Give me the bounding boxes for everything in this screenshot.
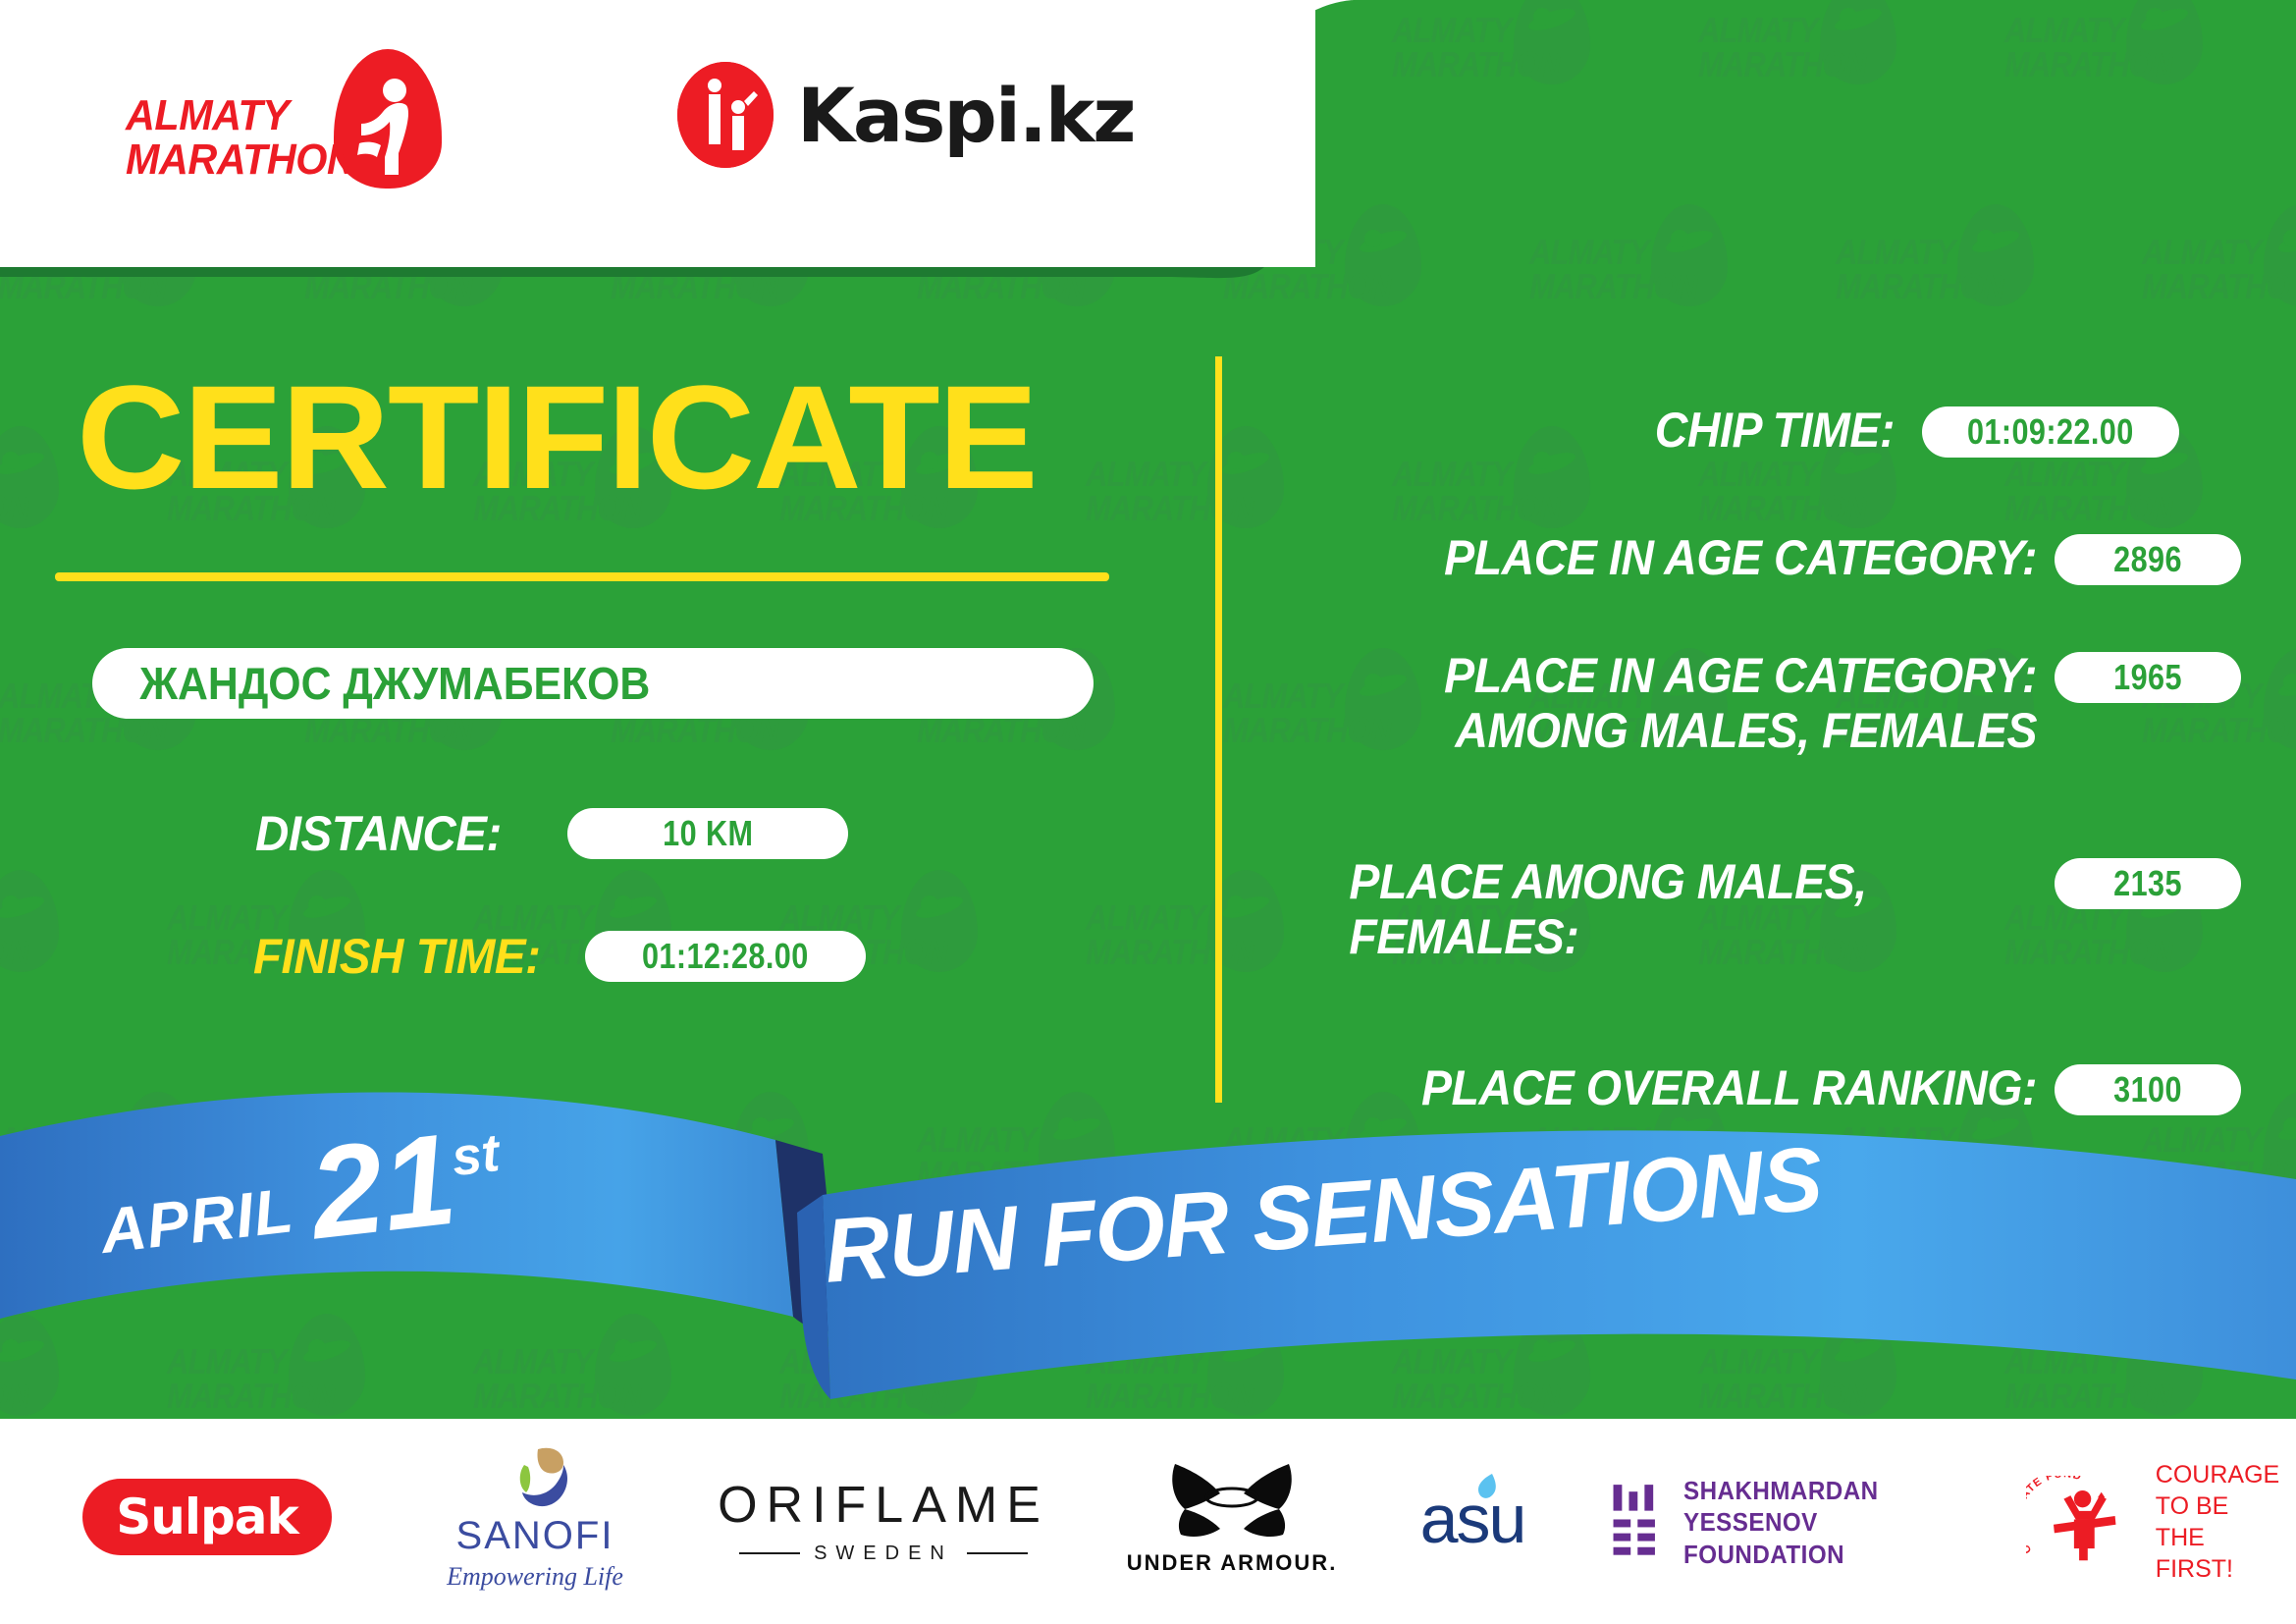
- watermark-text: ALMATY MARATHON: [2142, 236, 2296, 303]
- under-armour-mark-icon: [1165, 1458, 1299, 1543]
- participant-name-pill: ЖАНДОС ДЖУМАБЕКОВ: [92, 648, 1094, 719]
- watermark-text: ALMATY MARATHON: [1392, 458, 1560, 525]
- watermark-text: ALMATY MARATHON: [1836, 236, 2003, 303]
- result-row-age-category-among: PLACE IN AGE CATEGORY: AMONG MALES, FEMA…: [1276, 648, 2263, 758]
- event-day-suffix: st: [449, 1122, 503, 1188]
- watermark-unit: ALMATY MARATHON: [2134, 183, 2296, 405]
- watermark-text: ALMATY MARATHON: [1086, 901, 1254, 969]
- under-armour-logo-text: UNDER ARMOUR.: [1127, 1550, 1338, 1576]
- result-row-age-category: PLACE IN AGE CATEGORY: 2896: [1276, 530, 2263, 585]
- distance-value: 10 KM: [663, 813, 753, 854]
- watermark-text: ALMATY MARATHON: [0, 458, 28, 525]
- age-category-among-value-pill: 1965: [2055, 652, 2241, 703]
- asu-droplet-icon: [1474, 1472, 1504, 1505]
- watermark-text: ALMATY MARATHON: [1698, 14, 1866, 81]
- watermark-unit: ALMATY MARATHON: [1690, 0, 1997, 183]
- sanofi-mark-icon: [481, 1443, 589, 1514]
- sanofi-logo-text: SANOFI: [456, 1514, 614, 1558]
- distance-label: DISTANCE:: [255, 805, 502, 862]
- kaspi-mark-icon: [677, 62, 774, 168]
- oriflame-rule-left: [739, 1552, 800, 1554]
- oriflame-tagline-row: SWEDEN: [739, 1543, 1028, 1565]
- certificate-title: CERTIFICATE: [77, 363, 1037, 511]
- sanofi-logo: SANOFI Empowering Life: [393, 1436, 677, 1598]
- watermark-text: ALMATY MARATHON: [2004, 458, 2172, 525]
- courage-fund-text: COURAGE TO BE THE FIRST!: [2156, 1459, 2279, 1585]
- among-males-females-label: PLACE AMONG MALES, FEMALES:: [1276, 854, 1984, 964]
- sulpak-logo-text: Sulpak: [82, 1479, 332, 1555]
- age-category-label: PLACE IN AGE CATEGORY:: [1329, 530, 2037, 585]
- among-males-females-value-pill: 2135: [2055, 858, 2241, 909]
- courage-runner-icon: [2054, 1480, 2132, 1566]
- finish-time-row: FINISH TIME: 01:12:28.00: [253, 928, 866, 985]
- event-month: APRIL: [97, 1173, 297, 1268]
- result-row-among-males-females: PLACE AMONG MALES, FEMALES: 2135: [1276, 854, 2263, 964]
- watermark-unit: ALMATY MARATHON: [1997, 0, 2296, 183]
- asu-logo: asu: [1364, 1470, 1580, 1568]
- watermark-text: ALMATY MARATHON: [1698, 458, 1866, 525]
- distance-row: DISTANCE: 10 KM: [255, 805, 848, 862]
- certificate-page: ALMATY MARATHONALMATY MARATHONALMATY MAR…: [0, 0, 2296, 1624]
- watermark-text: ALMATY MARATHON: [1086, 458, 1254, 525]
- distance-value-pill: 10 KM: [567, 808, 848, 859]
- asu-logo-text: asu: [1420, 1480, 1525, 1558]
- watermark-unit: ALMATY MARATHON: [1522, 183, 1828, 405]
- participant-name: ЖАНДОС ДЖУМАБЕКОВ: [92, 657, 650, 710]
- watermark-text: ALMATY MARATHON: [1529, 236, 1697, 303]
- sponsor-bar: Sulpak SANOFI Empowering Life ORIFLAME S…: [0, 1419, 2296, 1624]
- almaty-marathon-logo: ALMATY MARATHON: [126, 47, 450, 185]
- oriflame-rule-right: [967, 1552, 1028, 1554]
- watermark-unit: ALMATY MARATHON: [0, 848, 159, 1070]
- runner-icon: [347, 69, 428, 179]
- chip-time-value: 01:09:22.00: [1967, 411, 2134, 453]
- almaty-marathon-logo-text: ALMATY MARATHON: [126, 94, 355, 183]
- watermark-text: ALMATY MARATHON: [2004, 14, 2172, 81]
- watermark-text: ALMATY MARATHON: [1392, 14, 1560, 81]
- oriflame-logo: ORIFLAME SWEDEN: [687, 1466, 1080, 1574]
- finish-time-value: 01:12:28.00: [642, 936, 809, 977]
- among-males-females-value: 2135: [2113, 863, 2182, 904]
- sanofi-tagline: Empowering Life: [447, 1562, 623, 1592]
- kaspi-logo-text: Kaspi.kz: [797, 72, 1135, 159]
- finish-time-value-pill: 01:12:28.00: [585, 931, 866, 982]
- title-divider-rule: [55, 572, 1109, 581]
- yessenov-mark-icon: [1610, 1478, 1662, 1568]
- result-row-chip-time: CHIP TIME: 01:09:22.00: [1276, 403, 2263, 458]
- sulpak-logo: Sulpak: [94, 1468, 320, 1566]
- chip-time-value-pill: 01:09:22.00: [1922, 406, 2179, 458]
- chip-time-label: CHIP TIME:: [1319, 403, 1895, 458]
- yessenov-foundation-logo: SHAKHMARDAN YESSENOV FOUNDATION: [1610, 1466, 2002, 1579]
- yessenov-foundation-text: SHAKHMARDAN YESSENOV FOUNDATION: [1683, 1475, 1980, 1571]
- under-armour-logo: UNDER ARMOUR.: [1090, 1453, 1374, 1581]
- age-category-value: 2896: [2113, 539, 2182, 580]
- oriflame-tagline: SWEDEN: [814, 1543, 953, 1565]
- courage-fund-logo: CORPORATE FUND COURAGE TO BE THE FIRST!: [2032, 1460, 2277, 1583]
- event-ribbon: APRIL 21 st RUN FOR SENSATIONS: [0, 1085, 2296, 1419]
- age-category-value-pill: 2896: [2055, 534, 2241, 585]
- watermark-text: ALMATY MARATHON: [0, 901, 28, 969]
- header-corner-curve: [1158, 0, 1355, 267]
- age-category-among-label: PLACE IN AGE CATEGORY: AMONG MALES, FEMA…: [1329, 648, 2037, 758]
- age-category-among-value: 1965: [2113, 657, 2182, 698]
- event-day: 21: [304, 1122, 460, 1252]
- finish-time-label: FINISH TIME:: [253, 928, 540, 985]
- watermark-unit: ALMATY MARATHON: [1384, 0, 1690, 183]
- watermark-unit: ALMATY MARATHON: [1828, 183, 2134, 405]
- column-divider: [1215, 356, 1222, 1103]
- kaspi-logo: Kaspi.kz: [677, 61, 1135, 169]
- oriflame-logo-text: ORIFLAME: [718, 1476, 1049, 1535]
